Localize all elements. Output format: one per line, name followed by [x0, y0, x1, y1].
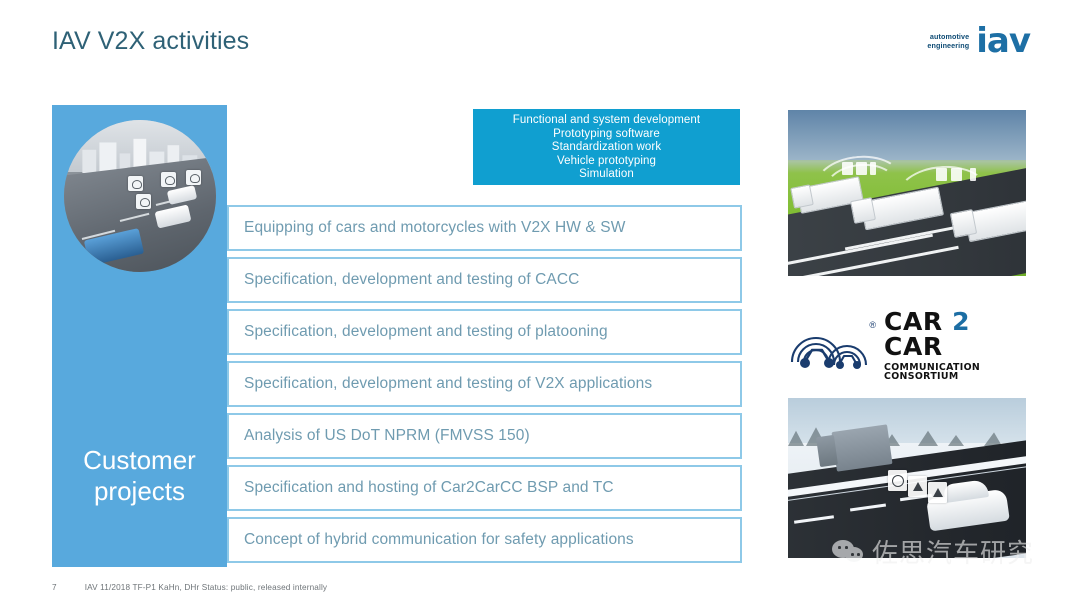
car2car-mark-icon: ®: [788, 318, 874, 372]
activity-label: Concept of hybrid communication for safe…: [244, 531, 634, 549]
activity-label: Specification, development and testing o…: [244, 271, 579, 289]
car2car-title-two: 2: [952, 307, 970, 336]
customer-projects-line-1: Customer: [52, 445, 227, 476]
activity-row: Specification, development and testing o…: [227, 361, 742, 407]
platoon-sky: [788, 110, 1026, 160]
capability-line: Functional and system development: [513, 114, 700, 128]
v2x-badge-icon: [161, 172, 176, 187]
activity-label: Specification, development and testing o…: [244, 375, 652, 393]
v2x-badge-icon: [128, 176, 143, 191]
v2x-city-traffic-circle-image: [64, 120, 216, 272]
iav-logo: automotive engineering iav: [927, 24, 1030, 58]
v2x-badge-icon: [136, 194, 151, 209]
car2car-title: CAR 2 CAR: [884, 309, 1026, 359]
winter-truck-trailer: [831, 424, 892, 471]
platoon-data-glyph: [842, 162, 853, 175]
capability-line: Vehicle prototyping: [557, 155, 656, 169]
activity-list: Equipping of cars and motorcycles with V…: [227, 205, 742, 569]
activity-label: Specification, development and testing o…: [244, 323, 608, 341]
activity-row: Analysis of US DoT NPRM (FMVSS 150): [227, 413, 742, 459]
activity-row: Specification, development and testing o…: [227, 257, 742, 303]
iav-wordmark: iav: [976, 24, 1030, 58]
activity-row: Specification and hosting of Car2CarCC B…: [227, 465, 742, 511]
activity-row: Specification, development and testing o…: [227, 309, 742, 355]
customer-projects-caption: Customer projects: [52, 445, 227, 507]
platoon-data-glyph: [936, 168, 947, 181]
car2car-consortium-logo: ® CAR 2 CAR COMMUNICATION CONSORTIUM: [788, 314, 1026, 376]
activity-label: Specification and hosting of Car2CarCC B…: [244, 479, 614, 497]
customer-projects-line-2: projects: [52, 476, 227, 507]
customer-projects-panel: Customer projects: [52, 105, 227, 567]
platoon-data-glyph: [856, 162, 867, 175]
car2car-title-part-2: CAR: [884, 332, 943, 361]
hazard-warning-icon: [888, 470, 907, 491]
iav-tagline-line-1: automotive: [927, 32, 969, 41]
activity-row: Concept of hybrid communication for safe…: [227, 517, 742, 563]
winter-road-hazard-warning-image: [788, 398, 1026, 558]
car2car-signal-cars-icon: [788, 318, 874, 372]
truck-platooning-image: [788, 110, 1026, 276]
hazard-triangle-glyph: [913, 482, 923, 491]
right-media-column: ® CAR 2 CAR COMMUNICATION CONSORTIUM: [788, 110, 1026, 558]
footer-meta: IAV 11/2018 TF-P1 KaHn, DHr Status: publ…: [85, 583, 327, 592]
page-title: IAV V2X activities: [52, 27, 249, 56]
platoon-truck-1-cab: [790, 184, 814, 208]
platoon-data-glyph: [951, 168, 962, 181]
iav-logo-tagline: automotive engineering: [927, 32, 969, 50]
page-number: 7: [52, 583, 57, 592]
car2car-subtitle: COMMUNICATION CONSORTIUM: [884, 363, 1026, 382]
activity-label: Equipping of cars and motorcycles with V…: [244, 219, 625, 237]
slide-footer: 7 IAV 11/2018 TF-P1 KaHn, DHr Status: pu…: [52, 583, 327, 592]
capability-line: Prototyping software: [553, 128, 660, 142]
activity-label: Analysis of US DoT NPRM (FMVSS 150): [244, 427, 530, 445]
v2x-badge-icon: [186, 170, 201, 185]
registered-trademark-mark: ®: [869, 320, 876, 330]
hazard-triangle-glyph: [933, 488, 943, 497]
car2car-logo-text: CAR 2 CAR COMMUNICATION CONSORTIUM: [884, 309, 1026, 382]
iav-tagline-line-2: engineering: [927, 41, 969, 50]
capabilities-callout-box: Functional and system development Protot…: [471, 107, 742, 187]
capability-line: Standardization work: [552, 141, 661, 155]
hazard-circle-glyph: [892, 475, 904, 487]
capability-line: Simulation: [579, 168, 634, 182]
hazard-warning-icon: [908, 476, 927, 497]
platoon-data-glyph: [970, 168, 976, 181]
platoon-data-glyph: [870, 162, 876, 175]
hazard-warning-icon: [928, 482, 947, 503]
activity-row: Equipping of cars and motorcycles with V…: [227, 205, 742, 251]
